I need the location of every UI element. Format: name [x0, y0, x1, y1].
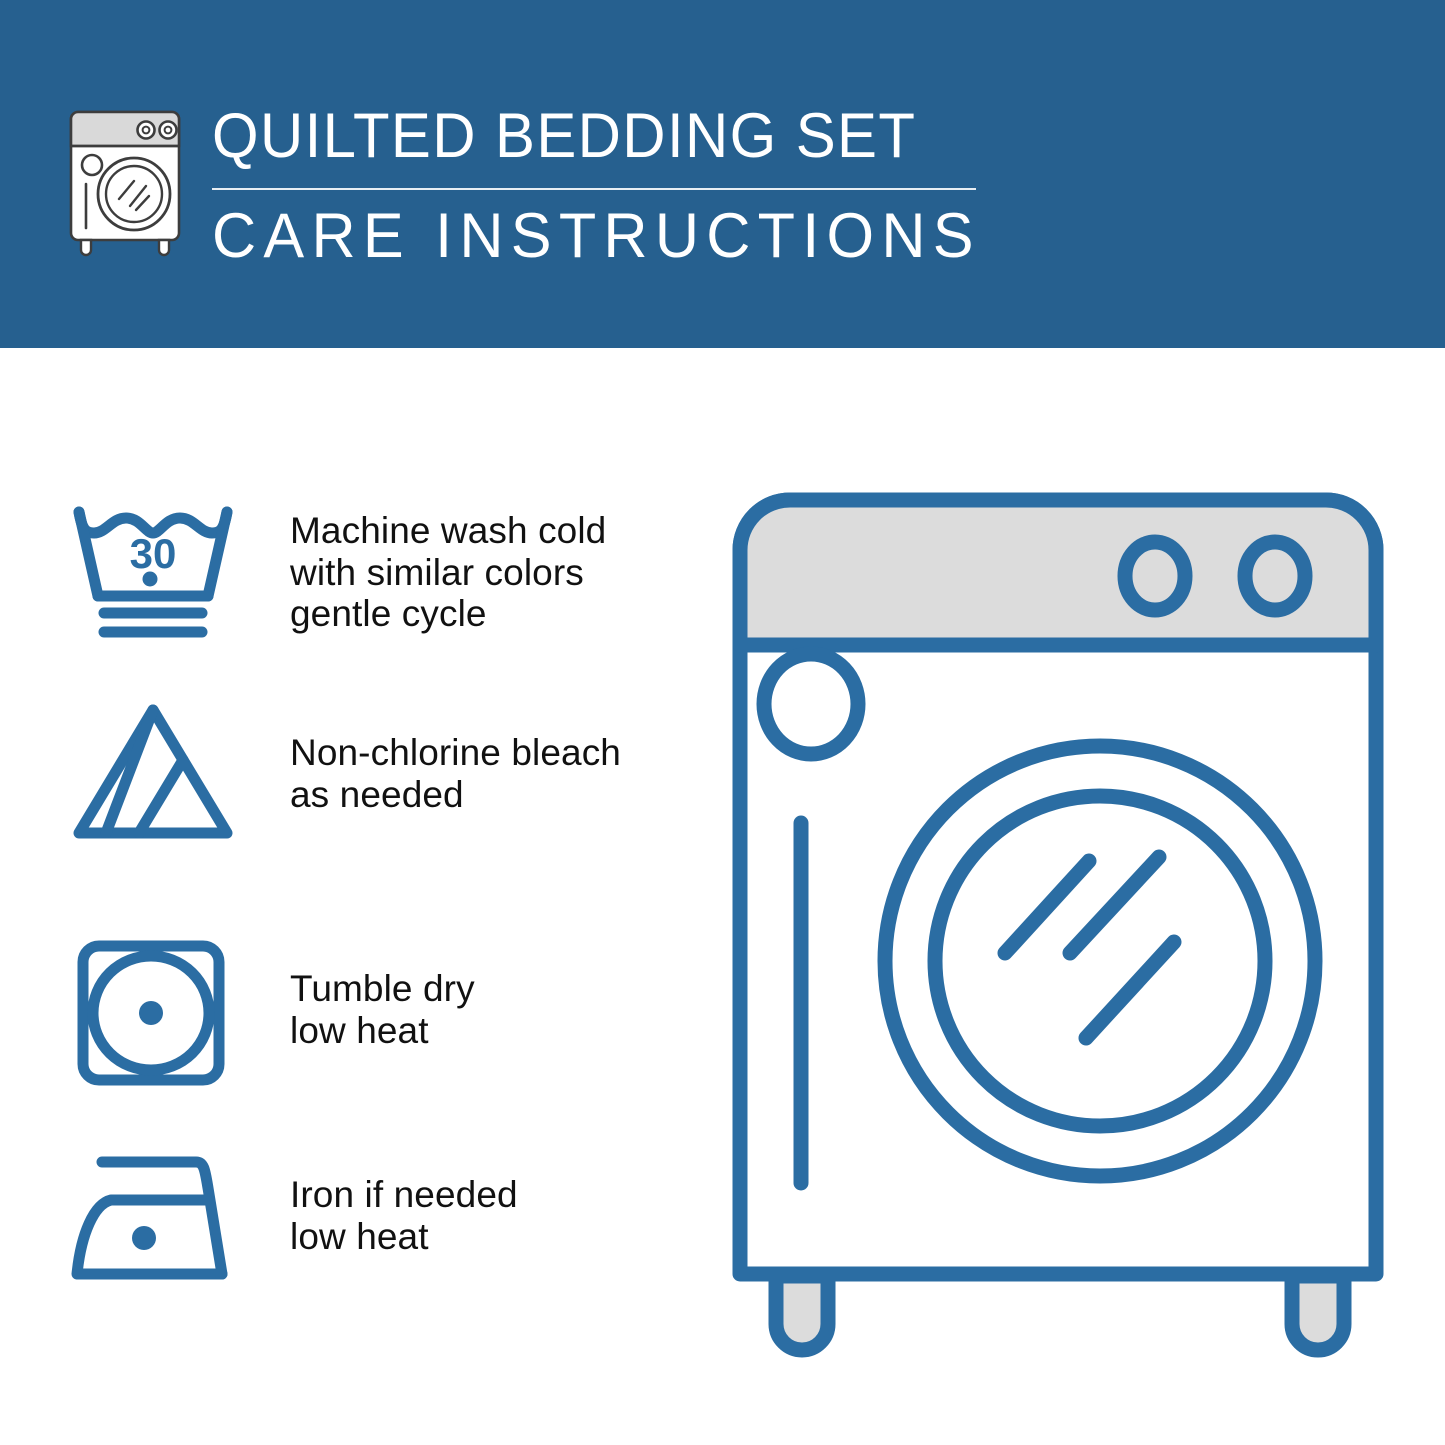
washing-machine-illustration [718, 478, 1398, 1378]
non-chlorine-bleach-triangle-icon [72, 700, 234, 842]
page-subtitle: CARE INSTRUCTIONS [212, 200, 981, 272]
dial-1 [1125, 542, 1185, 610]
care-row-label: Machine wash cold with similar colors ge… [290, 510, 606, 635]
dial-2 [1245, 542, 1305, 610]
gentle-dot [143, 572, 158, 587]
wash-temperature-label: 30 [130, 530, 177, 577]
drum-inner-ring [935, 796, 1265, 1126]
page-title: QUILTED BEDDING SET [212, 100, 916, 172]
care-row-label: Non-chlorine bleach as needed [290, 732, 621, 815]
care-row-label: Iron if needed low heat [290, 1174, 518, 1257]
care-row-label: Tumble dry low heat [290, 968, 475, 1051]
iron-low-heat-icon [68, 1148, 234, 1288]
wash-tub-30-gentle-icon: 30 [72, 500, 234, 642]
washing-machine-logo-icon [64, 106, 186, 254]
care-instructions-infographic: QUILTED BEDDING SET CARE INSTRUCTIONS 30 [0, 0, 1445, 1445]
low-heat-dot [139, 1001, 163, 1025]
machine-foot-left [776, 1276, 828, 1350]
header-banner: QUILTED BEDDING SET CARE INSTRUCTIONS [0, 0, 1445, 348]
low-heat-dot [132, 1226, 156, 1250]
title-divider [212, 188, 976, 190]
bleach-stripe-2 [139, 760, 183, 833]
tumble-dry-low-heat-icon [76, 940, 226, 1086]
machine-foot-right [1292, 1276, 1344, 1350]
care-instruction-list: 30 Machine wash cold with similar colors… [0, 348, 700, 1445]
header-text-block: QUILTED BEDDING SET CARE INSTRUCTIONS [210, 100, 1000, 260]
detergent-port-circle [764, 654, 858, 754]
